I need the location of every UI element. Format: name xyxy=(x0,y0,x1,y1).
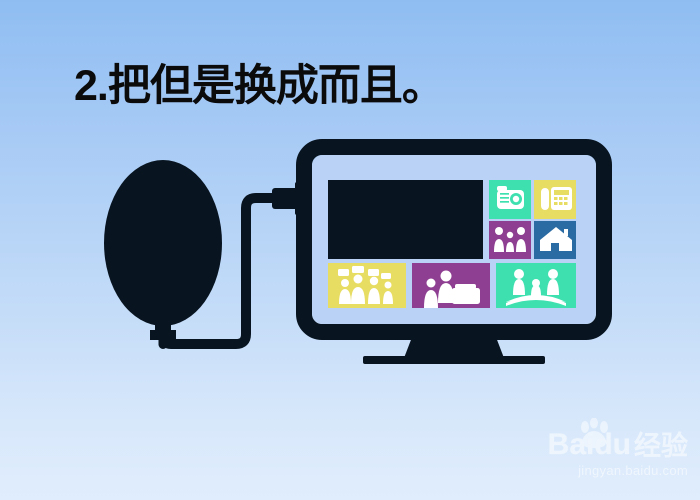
screenshot-canvas: 2.把但是换成而且。 Baidu 经验 jingyan.baidu.com xyxy=(0,0,700,500)
dark-ellipse-shape xyxy=(104,160,222,326)
tile-video-panel[interactable] xyxy=(328,180,483,259)
tile-family[interactable] xyxy=(489,221,531,259)
desk-phone-icon xyxy=(541,187,572,210)
page-title: 2.把但是换成而且。 xyxy=(74,64,444,109)
monitor-stand-base xyxy=(363,356,545,364)
monitor-stand-neck xyxy=(404,332,504,358)
